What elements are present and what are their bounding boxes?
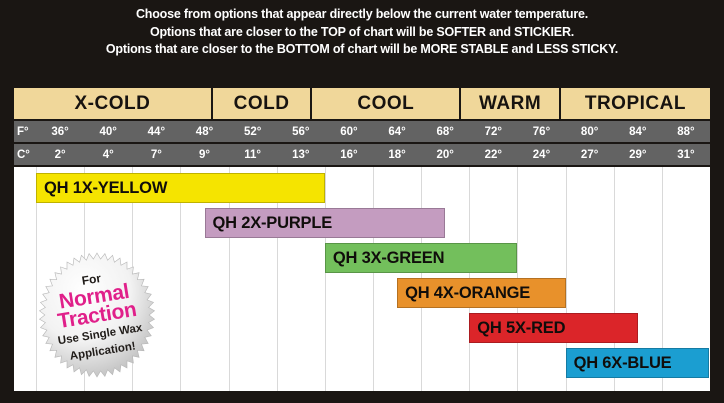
fahrenheit-axis-row: F°36°40°44°48°52°56°60°64°68°72°76°80°84… — [14, 121, 710, 142]
celsius-axis-row: C°2°4°7°9°11°13°16°18°20°22°24°27°29°31° — [14, 144, 710, 165]
wax-bar-qh-1x-yellow[interactable]: QH 1X-YELLOW — [36, 173, 325, 203]
wax-bar-qh-6x-blue[interactable]: QH 6X-BLUE — [566, 348, 709, 378]
wax-bar-qh-2x-purple[interactable]: QH 2X-PURPLE — [205, 208, 446, 238]
wax-bar-qh-5x-red[interactable]: QH 5X-RED — [469, 313, 638, 343]
temperature-category-row: X-COLDCOLDCOOLWARMTROPICAL — [14, 88, 710, 119]
wax-bar-label: QH 4X-ORANGE — [405, 284, 530, 303]
celsius-tick-0: 2° — [36, 144, 84, 165]
fahrenheit-tick-9: 72° — [469, 121, 517, 142]
fahrenheit-tick-11: 80° — [566, 121, 614, 142]
fahrenheit-axis-label: F° — [14, 121, 36, 142]
fahrenheit-tick-12: 84° — [614, 121, 662, 142]
fahrenheit-tick-13: 88° — [662, 121, 710, 142]
celsius-tick-11: 27° — [566, 144, 614, 165]
wax-temperature-chart: Choose from options that appear directly… — [0, 0, 724, 403]
temperature-category-warm: WARM — [461, 88, 560, 119]
wax-bar-label: QH 1X-YELLOW — [44, 179, 167, 198]
celsius-tick-5: 13° — [277, 144, 325, 165]
celsius-tick-9: 22° — [469, 144, 517, 165]
temperature-category-tropical: TROPICAL — [561, 88, 710, 119]
fahrenheit-tick-4: 52° — [229, 121, 277, 142]
celsius-axis-label: C° — [14, 144, 36, 165]
celsius-tick-6: 16° — [325, 144, 373, 165]
wax-bar-label: QH 2X-PURPLE — [213, 214, 333, 233]
wax-bar-label: QH 3X-GREEN — [333, 249, 445, 268]
celsius-tick-7: 18° — [373, 144, 421, 165]
fahrenheit-tick-3: 48° — [180, 121, 228, 142]
celsius-tick-1: 4° — [84, 144, 132, 165]
fahrenheit-tick-0: 36° — [36, 121, 84, 142]
celsius-tick-2: 7° — [132, 144, 180, 165]
fahrenheit-tick-7: 64° — [373, 121, 421, 142]
temperature-category-x-cold: X-COLD — [14, 88, 213, 119]
wax-bar-label: QH 5X-RED — [477, 319, 565, 338]
wax-bar-qh-4x-orange[interactable]: QH 4X-ORANGE — [397, 278, 566, 308]
fahrenheit-tick-8: 68° — [421, 121, 469, 142]
fahrenheit-tick-6: 60° — [325, 121, 373, 142]
instruction-line-3: Options that are closer to the BOTTOM of… — [0, 41, 724, 59]
fahrenheit-tick-2: 44° — [132, 121, 180, 142]
chart-area: X-COLDCOLDCOOLWARMTROPICAL F°36°40°44°48… — [14, 88, 710, 391]
fahrenheit-tick-5: 56° — [277, 121, 325, 142]
wax-bars: QH 1X-YELLOWQH 2X-PURPLEQH 3X-GREENQH 4X… — [14, 167, 710, 391]
temperature-category-cool: COOL — [312, 88, 461, 119]
wax-bar-qh-3x-green[interactable]: QH 3X-GREEN — [325, 243, 518, 273]
celsius-tick-10: 24° — [517, 144, 565, 165]
celsius-tick-12: 29° — [614, 144, 662, 165]
plot-area: QH 1X-YELLOWQH 2X-PURPLEQH 3X-GREENQH 4X… — [14, 167, 710, 391]
celsius-tick-13: 31° — [662, 144, 710, 165]
celsius-tick-4: 11° — [229, 144, 277, 165]
celsius-tick-8: 20° — [421, 144, 469, 165]
fahrenheit-tick-1: 40° — [84, 121, 132, 142]
fahrenheit-tick-10: 76° — [517, 121, 565, 142]
instructions-block: Choose from options that appear directly… — [0, 6, 724, 59]
wax-bar-label: QH 6X-BLUE — [574, 354, 672, 373]
instruction-line-2: Options that are closer to the TOP of ch… — [0, 24, 724, 42]
temperature-category-cold: COLD — [213, 88, 312, 119]
celsius-tick-3: 9° — [180, 144, 228, 165]
instruction-line-1: Choose from options that appear directly… — [0, 6, 724, 24]
